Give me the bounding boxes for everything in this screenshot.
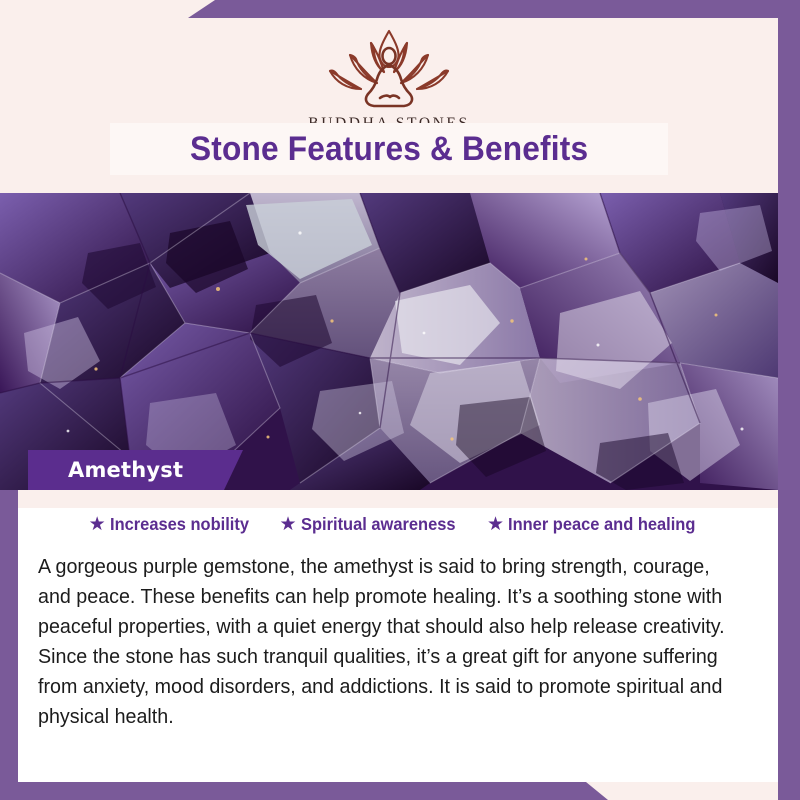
- benefit-label-1: Increases nobility: [110, 514, 249, 535]
- frame-top-band: [0, 0, 800, 18]
- lotus-meditation-icon: [314, 26, 464, 112]
- content-top-strip: [18, 490, 778, 508]
- stone-name-label: Amethyst: [68, 458, 183, 482]
- page-title: Stone Features & Benefits: [190, 130, 588, 169]
- benefits-row: ★ Increases nobility ★ Spiritual awarene…: [18, 514, 778, 535]
- stone-content-panel: ★ Increases nobility ★ Spiritual awarene…: [18, 490, 778, 782]
- frame-left-band: [0, 485, 18, 800]
- star-icon: ★: [89, 515, 106, 534]
- stone-description: A gorgeous purple gemstone, the amethyst…: [38, 552, 735, 732]
- benefit-label-3: Inner peace and healing: [508, 514, 695, 535]
- frame-bottom-band: [0, 782, 800, 800]
- stone-name-ribbon: Amethyst: [28, 450, 243, 490]
- star-icon: ★: [280, 515, 297, 534]
- title-band: Stone Features & Benefits: [110, 123, 668, 175]
- frame-right-band: [778, 0, 800, 800]
- crystal-photo-graphic: [0, 193, 778, 490]
- star-icon: ★: [487, 515, 504, 534]
- benefit-item-1: ★ Increases nobility: [89, 514, 258, 535]
- stone-info-poster: BUDDHA STONES Stone Features & Benefits: [0, 0, 800, 800]
- brand-logo: BUDDHA STONES: [308, 26, 469, 133]
- benefit-item-2: ★ Spiritual awareness: [280, 514, 465, 535]
- benefit-label-2: Spiritual awareness: [301, 514, 456, 535]
- amethyst-crystal-photo: [0, 193, 778, 490]
- benefit-item-3: ★ Inner peace and healing: [487, 514, 707, 535]
